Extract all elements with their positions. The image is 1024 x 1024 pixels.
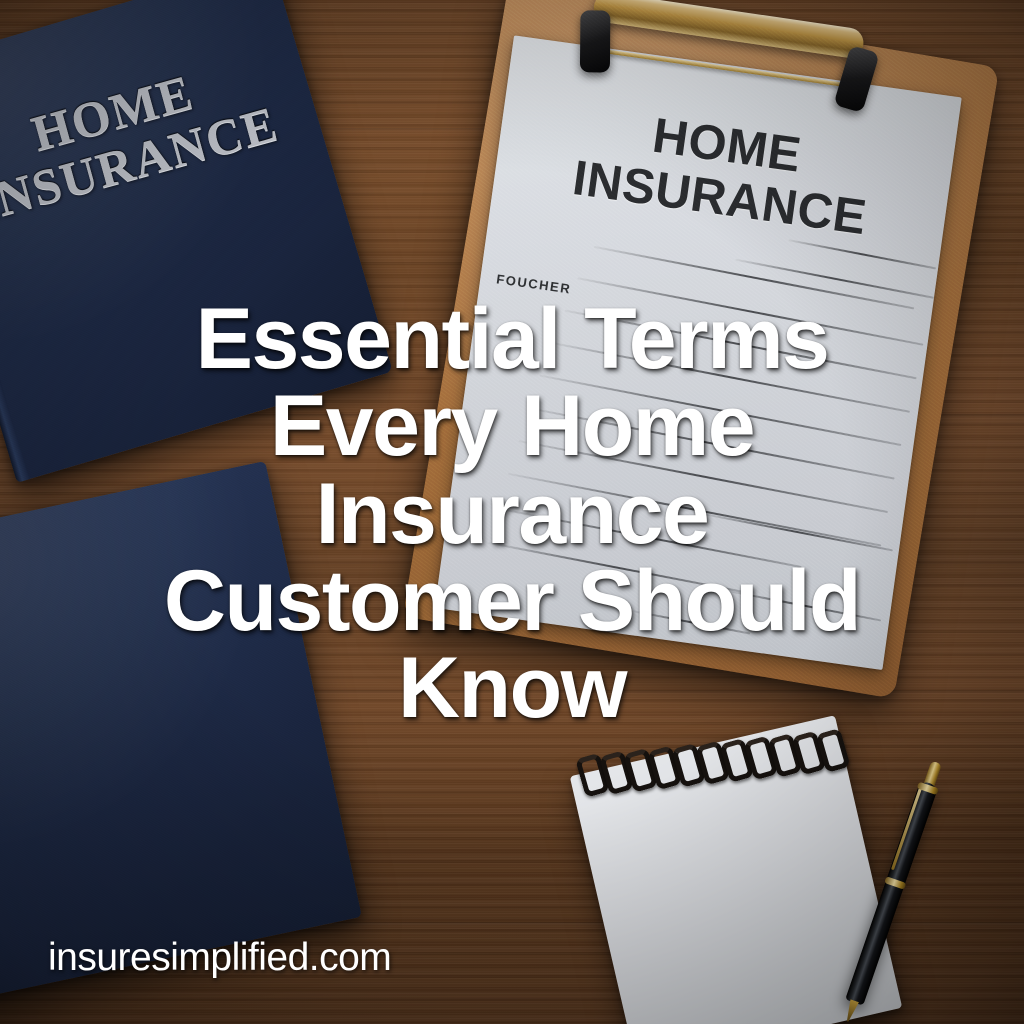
- clipboard-clip-foot-left: [580, 10, 611, 72]
- book-spine: [0, 67, 30, 483]
- form-rule: [488, 542, 746, 593]
- site-watermark: insuresimplified.com: [48, 936, 391, 980]
- form-rule: [518, 440, 888, 513]
- form-label-foucher: FOUCHER: [495, 271, 572, 296]
- clipboard: HOME INSURANCE FOUCHER: [403, 0, 1000, 699]
- poster-canvas: HOME INSURANCE HOME INSURANCE FOUCHER: [0, 0, 1024, 1024]
- form-rule: [529, 407, 895, 479]
- form-rule: [735, 259, 934, 299]
- form-rule: [594, 246, 914, 309]
- form-rule: [577, 277, 923, 345]
- form-rule: [552, 342, 910, 412]
- form-rule: [789, 239, 937, 269]
- form-heading: HOME INSURANCE: [492, 89, 954, 256]
- form-rule: [497, 507, 802, 567]
- clipboard-clip-wire: [595, 48, 849, 88]
- form-rule: [632, 610, 750, 634]
- form-rule: [726, 590, 881, 621]
- book-cover-title: HOME INSURANCE: [0, 39, 307, 238]
- form-rule: [540, 375, 902, 446]
- insurance-form-paper: HOME INSURANCE FOUCHER: [435, 35, 962, 670]
- clipboard-clip-foot-right: [833, 45, 879, 113]
- form-rule: [700, 512, 893, 551]
- form-rule: [565, 310, 917, 379]
- form-rule: [508, 473, 881, 546]
